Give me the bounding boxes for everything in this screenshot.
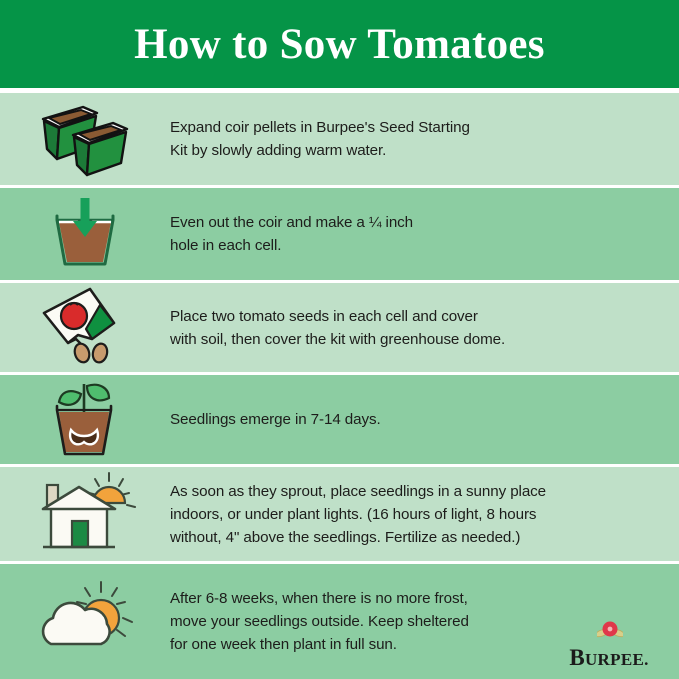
step-1-icon-cell: [0, 97, 170, 182]
steps-list: Expand coir pellets in Burpee's Seed Sta…: [0, 93, 679, 679]
wordmark-suffix: .: [644, 650, 649, 669]
header-banner: How to Sow Tomatoes: [0, 0, 679, 88]
step-row-3: Place two tomato seeds in each cell and …: [0, 283, 679, 375]
wordmark-rest: URPEE: [585, 650, 644, 669]
step-row-6: After 6-8 weeks, when there is no more f…: [0, 564, 679, 679]
flower-icon: [597, 617, 623, 643]
step-row-2: Even out the coir and make a ¼ inch hole…: [0, 188, 679, 283]
step-3-text-cell: Place two tomato seeds in each cell and …: [170, 305, 679, 351]
infographic-poster: How to Sow Tomatoes: [0, 0, 679, 679]
seed-packet-icon: [30, 283, 140, 372]
house-with-sun-icon: [29, 469, 141, 560]
burpee-logo: BURPEE.: [555, 615, 663, 671]
sun-behind-cloud-icon: [29, 578, 141, 665]
step-text: Even out the coir and make a ¼ inch hole…: [170, 211, 665, 257]
step-text: Seedlings emerge in 7-14 days.: [170, 408, 665, 431]
step-row-4: Seedlings emerge in 7-14 days.: [0, 375, 679, 467]
step-text: As soon as they sprout, place seedlings …: [170, 480, 665, 549]
step-1-text-cell: Expand coir pellets in Burpee's Seed Sta…: [170, 116, 679, 162]
burpee-wordmark: BURPEE.: [555, 646, 663, 669]
step-text: Place two tomato seeds in each cell and …: [170, 305, 665, 351]
step-6-icon-cell: [0, 578, 170, 665]
wordmark-lead: B: [569, 645, 585, 670]
step-3-icon-cell: [0, 283, 170, 372]
step-4-text-cell: Seedlings emerge in 7-14 days.: [170, 408, 679, 431]
step-5-text-cell: As soon as they sprout, place seedlings …: [170, 480, 679, 549]
step-2-icon-cell: [0, 190, 170, 279]
step-text: Expand coir pellets in Burpee's Seed Sta…: [170, 116, 665, 162]
step-4-icon-cell: [0, 372, 170, 467]
seedling-pot-icon: [35, 372, 135, 467]
step-row-5: As soon as they sprout, place seedlings …: [0, 467, 679, 564]
pot-with-down-arrow-icon: [37, 190, 133, 279]
step-row-1: Expand coir pellets in Burpee's Seed Sta…: [0, 93, 679, 188]
seed-cells-icon: [33, 97, 137, 182]
step-2-text-cell: Even out the coir and make a ¼ inch hole…: [170, 211, 679, 257]
page-title: How to Sow Tomatoes: [134, 23, 545, 66]
step-5-icon-cell: [0, 469, 170, 560]
